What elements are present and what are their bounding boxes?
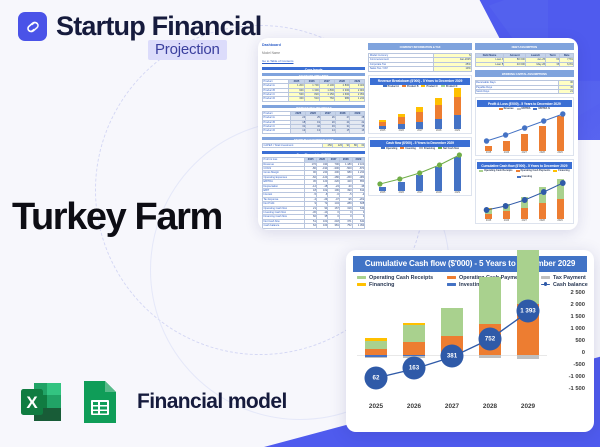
table-row: Sales Tax / VAT10% [369, 67, 471, 71]
mini-chart-pl-title: Profit & Loss ($'000) - 5 Years to Decem… [477, 100, 572, 107]
chart-x-axis: 2025 2026 2027 2028 2029 [357, 403, 547, 410]
panel-working-capital: WORKING CAPITAL ASSUMPTIONS [475, 70, 574, 77]
legend-label: Operating Cash Receipts [369, 275, 433, 281]
legend-swatch [447, 283, 456, 286]
y-tick: -500 [573, 362, 585, 368]
y-tick: 2 000 [570, 302, 585, 308]
mini-chart-profit-loss: Profit & Loss ($'000) - 5 Years to Decem… [475, 97, 574, 156]
cash-balance-line [357, 294, 547, 392]
panel-average-price: AVERAGE SELLING PRICE $ [262, 105, 365, 108]
mini-chart-cumulative-xaxis: 2025 2026 2027 2028 2029 [477, 219, 572, 222]
mini-chart-cashflow-legend: Operating Investing Financing Net Cash f… [370, 147, 469, 150]
mini-bar [435, 98, 442, 129]
mini-chart-cumulative-plot [477, 179, 572, 219]
microsoft-excel-icon: X [17, 378, 65, 426]
mini-chart-pl-plot [477, 111, 572, 151]
mini-chart-revenue-breakdown: Revenue Breakdown ($'000) - 5 Years to D… [368, 75, 471, 134]
table-row: Stock Days21 [475, 90, 573, 94]
y-tick: 2 500 [570, 290, 585, 296]
mini-chart-cumulative-cashflow: Cumulative Cash flow ($'000) - 5 Years t… [475, 159, 574, 224]
panel-core-inputs: Core Inputs [262, 67, 365, 70]
brand-name: Startup Financial [56, 11, 261, 42]
legend-swatch [357, 283, 366, 286]
mini-chart-cashflow-plot [370, 151, 469, 191]
table-row: Loan B40 000May-26366,0% [475, 62, 573, 66]
dashboard-column-left: Dashboard Model Name Go to Table of Cont… [262, 43, 365, 225]
y-tick: -1 000 [569, 374, 585, 380]
chart-plot-area: 62 163 381 752 1 393 2 500 2 000 1 500 1… [353, 294, 587, 412]
table-row: Depreciation-12-18-24-30-36 [263, 184, 365, 188]
table-row: Product D1213141516 [263, 129, 365, 133]
working-capital-table: Receivable Days30 Payable Days45 Stock D… [475, 80, 574, 94]
legend-item-operating-cash-receipts: Operating Cash Receipts [357, 275, 445, 281]
legend-swatch [541, 276, 550, 279]
chart-plot: 62 163 381 752 1 393 [357, 294, 547, 392]
mini-bar [416, 107, 423, 129]
core-financials-table: Profit & loss20252026202720282029 Revenu… [262, 157, 365, 229]
mini-chart-cashflow-xaxis: 2025 2026 2027 2028 2029 [370, 191, 469, 194]
panel-company-info: COMPANY INFORMATION & TAX [368, 43, 471, 50]
legend-label: Cash balance [553, 282, 588, 288]
x-tick: 2029 [513, 403, 543, 410]
chart-title: Cumulative Cash flow ($'000) - 5 Years t… [353, 256, 587, 272]
page-title: Turkey Farm [12, 196, 222, 239]
svg-text:X: X [26, 393, 38, 412]
legend-swatch [541, 284, 550, 286]
panel-core-financials: Core Financials ($'000) [262, 151, 365, 154]
table-row: Financing Cash flow6035000 [263, 215, 365, 219]
table-row: Operating Expenses-60-120-180-260-380 [263, 175, 365, 179]
company-info-table: Model Currency$ CommencementJan-2025 Cor… [368, 53, 471, 72]
table-row: Net Cash flow51101218371641 [263, 219, 365, 223]
dashboard-preview-card: Dashboard Model Name Go to Table of Cont… [258, 38, 578, 230]
x-tick: 2028 [475, 403, 505, 410]
mini-bar [454, 88, 461, 129]
table-row: Investing Cash flow-30-10000 [263, 211, 365, 215]
legend-item-financing: Financing [357, 282, 445, 288]
startup-cost-table: CAPEX / Total Investment450120908060 [262, 143, 365, 148]
brand-subtitle-wrap: Projection [148, 40, 227, 60]
legend-swatch [357, 276, 366, 279]
mini-cumulative-line [477, 179, 572, 219]
y-tick: 1 000 [570, 326, 585, 332]
average-price-table: Product20252026202720282029 Product A242… [262, 111, 365, 134]
table-row: CAPEX / Total Investment450120908060 [263, 143, 365, 147]
mini-bar [398, 114, 405, 129]
sales-volume-table: Product20252026202720282029 Product A1 2… [262, 79, 365, 102]
y-tick: -1 500 [569, 386, 585, 392]
chart-legend: Operating Cash Receipts Operating Cash P… [353, 272, 587, 290]
dashboard-toc-link[interactable]: Go to Table of Contents [262, 59, 365, 64]
y-tick: 500 [575, 338, 585, 344]
legend-swatch [447, 276, 456, 279]
table-row: Product D3005107609801 240 [263, 97, 365, 101]
mini-chart-pl-legend: Revenue EBITDA EBITDA % [477, 107, 572, 110]
x-tick: 2027 [437, 403, 467, 410]
dashboard-column-right: DEBT ASSUMPTION Debt NameAmountLaunchTer… [475, 43, 574, 225]
mini-cashflow-line [370, 151, 469, 191]
legend-label: Tax Payment [553, 275, 586, 281]
cumulative-cashflow-chart-card: Cumulative Cash flow ($'000) - 5 Years t… [346, 250, 594, 432]
mini-chart-cashflow-title: Cash flow ($'000) - 5 Years to December … [370, 140, 469, 147]
dashboard-column-middle: COMPANY INFORMATION & TAX Model Currency… [368, 43, 471, 225]
mini-bar [379, 120, 386, 129]
mini-chart-cumulative-legend: Operating Cash Receipts Operating Cash P… [477, 169, 572, 178]
dashboard-header-sub: Model Name [262, 51, 365, 56]
panel-startup-cost: STARTUP / ACQUISITION COST [262, 137, 365, 140]
table-row: Gross Margin902404006801 230 [263, 171, 365, 175]
y-tick: 1 500 [570, 314, 585, 320]
x-tick: 2025 [361, 403, 391, 410]
panel-debt-assumption: DEBT ASSUMPTION [475, 43, 574, 50]
chart-y-axis: 2 500 2 000 1 500 1 000 500 0 -500 -1 00… [549, 290, 585, 392]
y-tick: 0 [582, 350, 585, 356]
mini-chart-pl-xaxis: 2025 2026 2027 2028 2029 [477, 151, 572, 154]
swirl-e-logo-icon [18, 12, 47, 41]
dashboard-header-title: Dashboard [262, 43, 365, 48]
mini-chart-cashflow: Cash flow ($'000) - 5 Years to December … [368, 137, 471, 196]
panel-sales-volume: SALES VOLUME UNITS [262, 73, 365, 76]
legend-label: Financing [369, 282, 394, 288]
x-tick: 2026 [399, 403, 429, 410]
mini-chart-revenue-title: Revenue Breakdown ($'000) - 5 Years to D… [370, 78, 469, 85]
table-row: Cash balance621633817521 393 [263, 224, 365, 228]
footer-badges: X Financial model [17, 378, 287, 426]
mini-chart-cumulative-title: Cumulative Cash flow ($'000) - 5 Years t… [477, 162, 572, 169]
table-row: Operating Cash flow2190167319644 [263, 206, 365, 210]
brand-subtitle: Projection [148, 40, 227, 60]
table-row: Tax Expense-4-24-47-96-202 [263, 197, 365, 201]
legend-item-cash-balance: Cash balance [541, 282, 588, 288]
mini-pl-line [477, 111, 572, 151]
mini-chart-revenue-xaxis: 2025 2026 2027 2028 2029 [370, 129, 469, 132]
debt-assumption-table: Debt NameAmountLaunchTermRate Loan A80 0… [475, 53, 574, 67]
footer-label: Financial model [137, 390, 287, 414]
google-sheets-icon [78, 378, 122, 426]
mini-chart-revenue-plot [370, 89, 469, 129]
legend-item-tax-payment: Tax Payment [541, 275, 588, 281]
brand-header: Startup Financial [18, 11, 261, 42]
